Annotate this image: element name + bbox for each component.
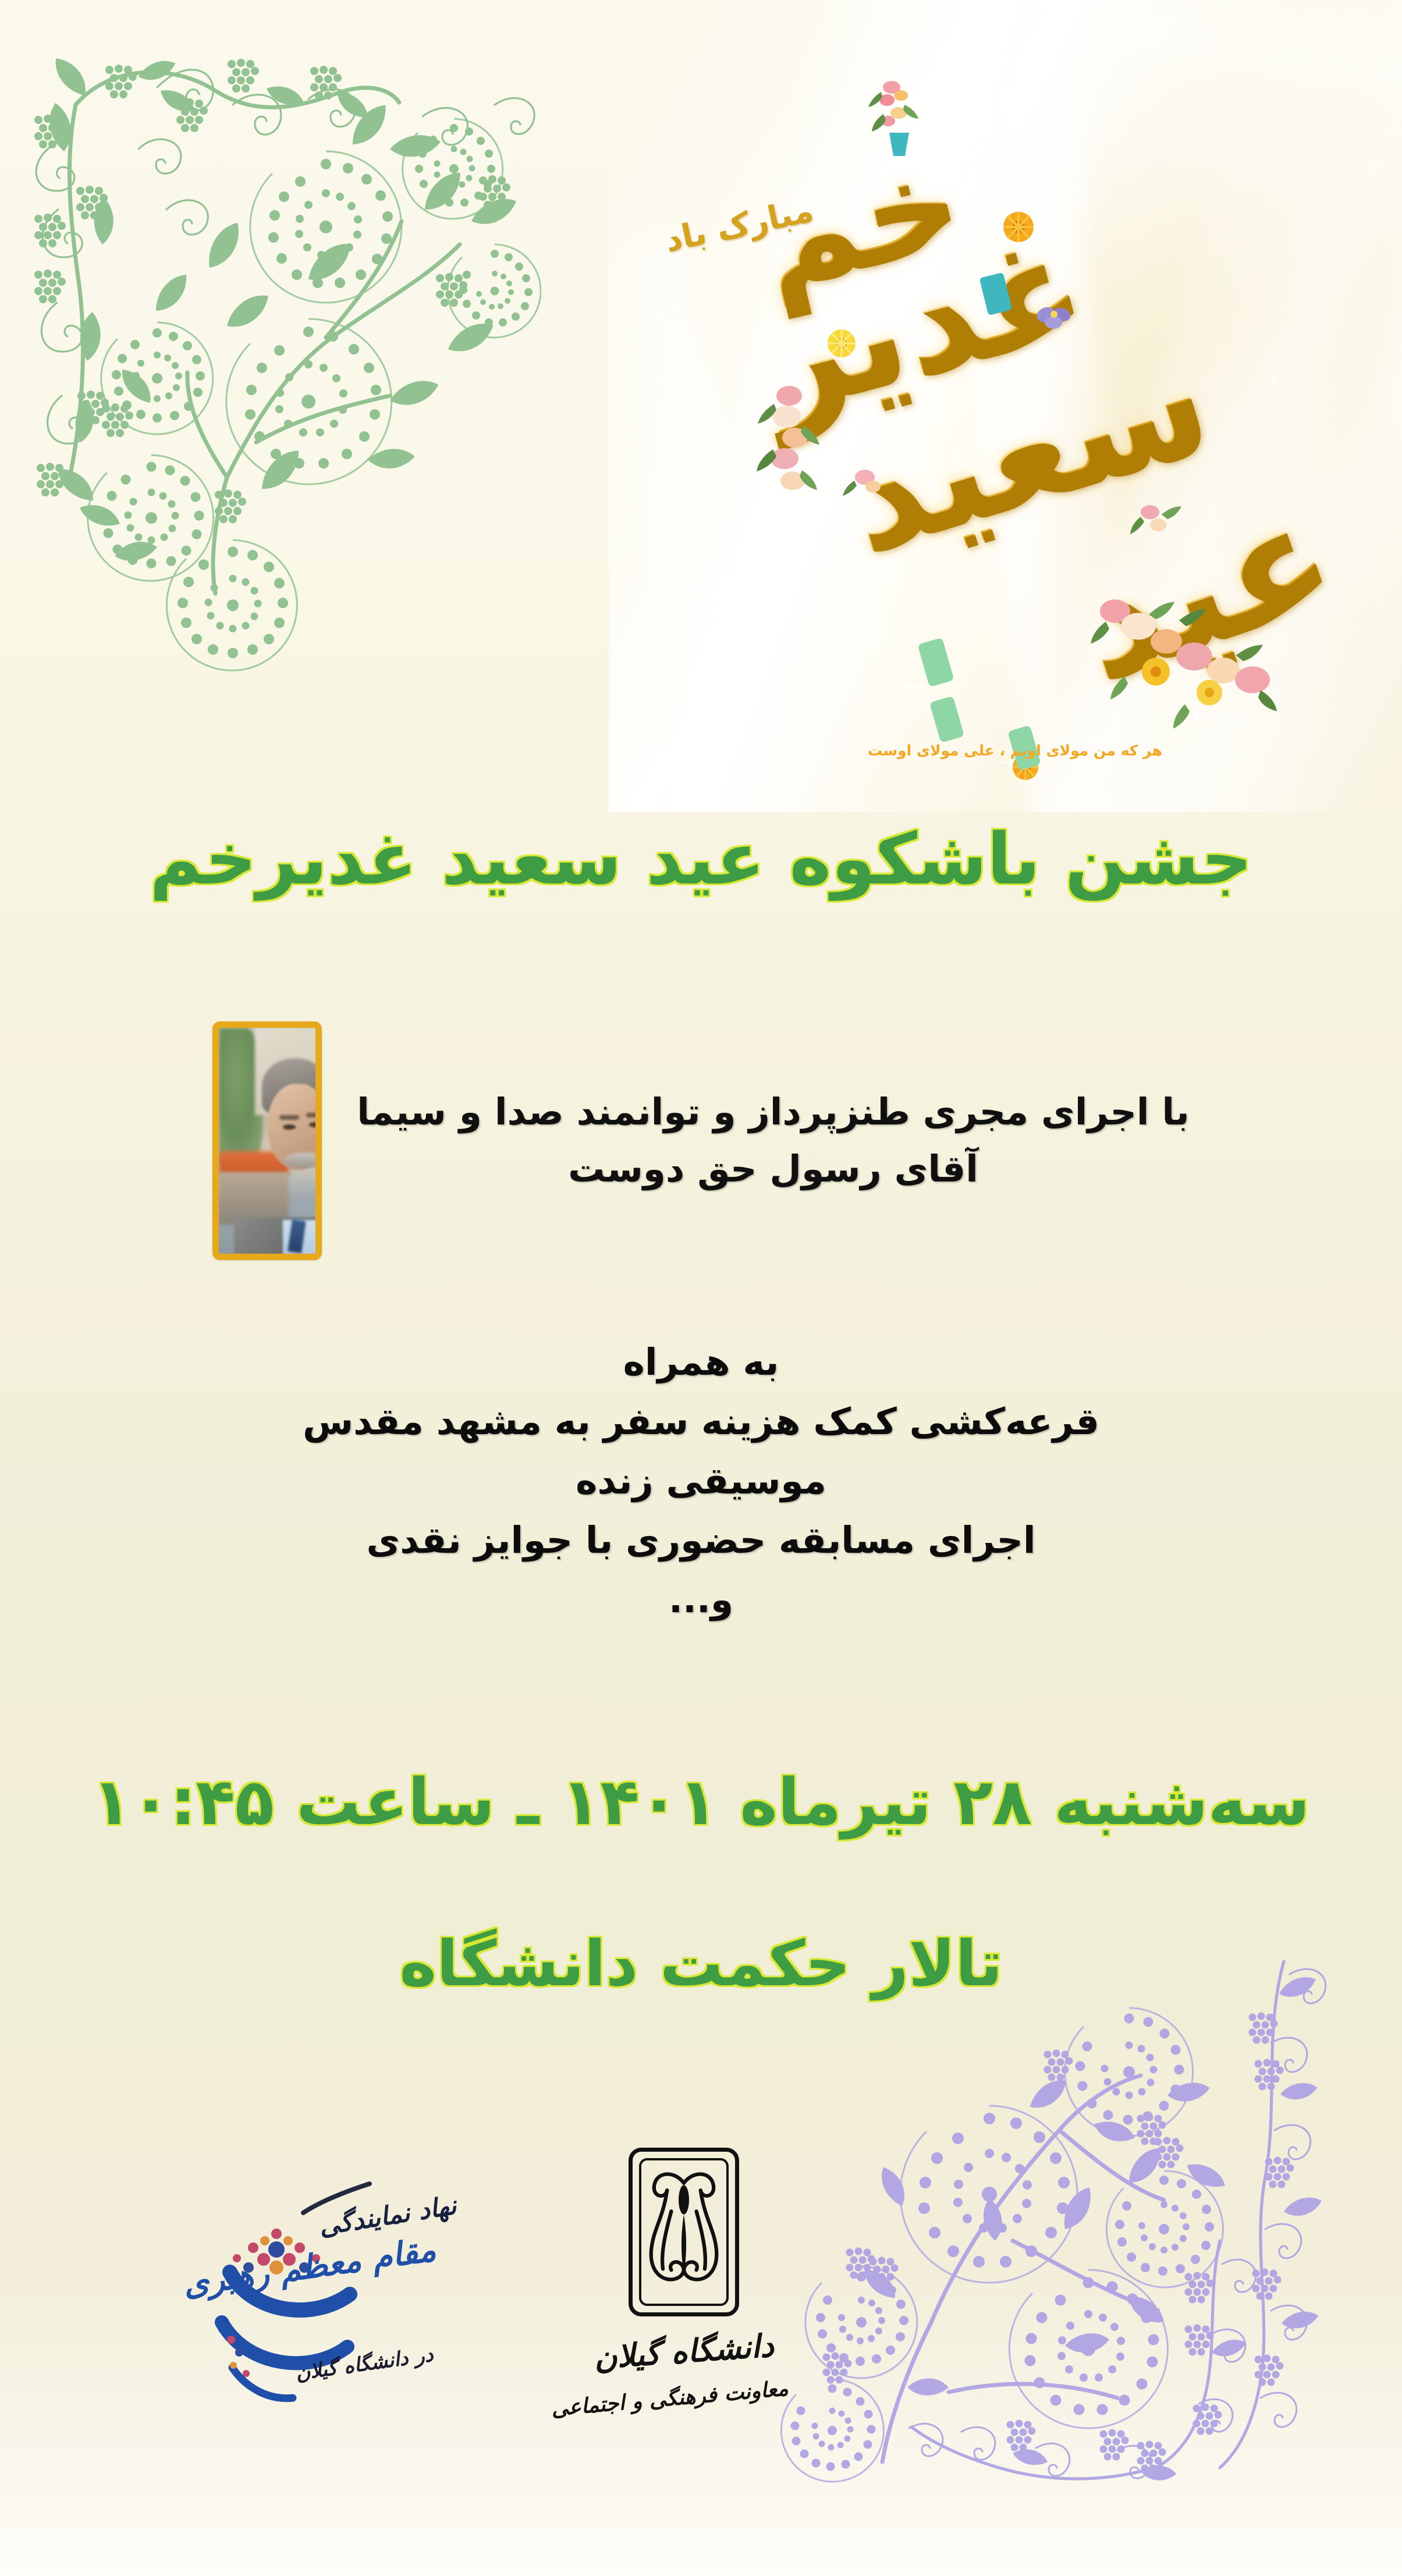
host-photo-frame	[212, 1021, 322, 1260]
event-poster: خم غدیر سعید عید مبارک باد	[0, 0, 1402, 2576]
gilan-department-name: معاونت فرهنگی و اجتماعی	[578, 2376, 789, 2418]
host-intro-line: با اجرای مجری طنزپرداز و توانمند صدا و س…	[357, 1084, 1189, 1141]
host-section: با اجرای مجری طنزپرداز و توانمند صدا و س…	[0, 1021, 1402, 1260]
photo-background-street	[219, 1172, 289, 1225]
nahad-representative-logo: نهاد نمایندگی مقام معظم رهبری در دانشگاه…	[195, 2148, 468, 2439]
nahad-line-3: در دانشگاه گیلان	[294, 2343, 435, 2386]
program-item-contest: اجرای مسابقه حضوری با جوایز نقدی	[0, 1511, 1402, 1570]
photo-eyebrow-right	[306, 1113, 315, 1117]
header-banner-artwork: خم غدیر سعید عید مبارک باد	[609, 0, 1402, 812]
gilan-university-name: دانشگاه گیلان	[578, 2326, 790, 2378]
flower-decoration-icon	[609, 0, 1402, 812]
host-portrait-photo	[219, 1028, 315, 1254]
purple-floral-ornament	[757, 1938, 1402, 2576]
photo-moustache	[284, 1152, 315, 1168]
program-heading: به همراه	[0, 1333, 1402, 1392]
program-item-more: و...	[0, 1570, 1402, 1630]
photo-eyebrow-left	[279, 1115, 299, 1120]
nahad-line-1: نهاد نمایندگی	[317, 2191, 458, 2242]
gilan-emblem-icon	[629, 2148, 739, 2316]
host-name-line: آقای رسول حق دوست	[357, 1141, 1189, 1198]
green-floral-ornament	[0, 35, 541, 687]
nahad-logo-text: نهاد نمایندگی مقام معظم رهبری در دانشگاه…	[195, 2148, 468, 2439]
footer-logos: نهاد نمایندگی مقام معظم رهبری در دانشگاه…	[169, 2148, 815, 2479]
program-item-lottery: قرعه‌کشی کمک هزینه سفر به مشهد مقدس	[0, 1392, 1402, 1452]
program-item-music: موسیقی زنده	[0, 1452, 1402, 1511]
hadith-text: هر که من مولای اویم ، علی مولای اوست	[835, 742, 1195, 759]
gilan-emblem-artwork	[642, 2161, 726, 2297]
event-date-time: سه‌شنبه ۲۸ تیرماه ۱۴۰۱ ـ ساعت ۱۰:۴۵	[0, 1764, 1402, 1840]
university-of-gilan-logo: دانشگاه گیلان معاونت فرهنگی و اجتماعی	[579, 2148, 789, 2444]
nahad-line-2: مقام معظم رهبری	[180, 2230, 438, 2304]
page-title: جشن باشکوه عید سعید غدیرخم	[0, 815, 1402, 904]
program-section: به همراه قرعه‌کشی کمک هزینه سفر به مشهد …	[0, 1333, 1402, 1630]
host-description: با اجرای مجری طنزپرداز و توانمند صدا و س…	[357, 1084, 1189, 1197]
